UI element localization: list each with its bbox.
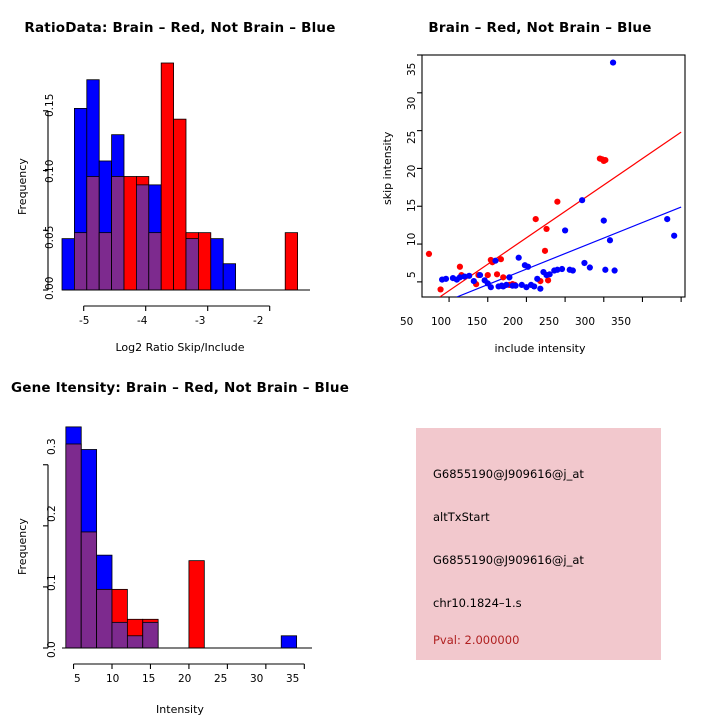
hist-bar [189,561,204,648]
scatter-point [500,274,506,280]
scatter-point [542,248,548,254]
scatter-point [492,258,498,264]
info-coordinate: chr10.1824–1.s [433,596,522,610]
scatter-point [466,273,472,279]
scatter-point [570,267,576,273]
scatter-point [581,260,587,266]
scatter-series [426,156,609,293]
scatter-point [537,286,543,292]
scatter-point [494,271,500,277]
hist-bar [161,63,173,290]
scatter-point [488,284,494,290]
info-pval: Pval: 2.000000 [433,633,519,647]
scatter-point [426,251,432,257]
hist-bar-overlap [87,177,99,291]
scatter-point [607,237,613,243]
scatter-point [602,267,608,273]
scatter-point [664,216,670,222]
hist-bar [124,177,136,291]
hist-bar-overlap [99,233,111,290]
scatter-point [579,197,585,203]
scatter-point [437,286,443,292]
scatter-point [443,276,449,282]
hist-bar-overlap [112,622,127,648]
fit-line-0 [440,132,681,297]
scatter-point [498,256,504,262]
scatter-point [554,199,560,205]
scatter-point [503,282,509,288]
info-event-type: altTxStart [433,510,490,524]
panel2-plot-area [360,0,720,360]
scatter-point [587,264,593,270]
panel-scatter: Brain – Red, Not Brain – Blue skip inten… [360,0,720,360]
info-probeset-id-1: G6855190@J909616@j_at [433,467,584,481]
scatter-point [525,264,531,270]
hist-bar [211,239,223,290]
scatter-point [512,283,518,289]
scatter-point [485,272,491,278]
panel1-plot-area [0,0,360,360]
info-text-box: G6855190@J909616@j_at altTxStart G685519… [416,428,661,660]
hist-bar [198,233,210,290]
panel3-plot-area [0,360,360,720]
hist-bar-overlap [136,185,148,290]
hist-bar-overlap [127,636,142,648]
hist-bar [62,239,74,290]
scatter-point [610,59,616,65]
hist-bar-overlap [66,444,81,648]
scatter-point [602,157,608,163]
hist-bar-overlap [112,177,124,291]
hist-bar-overlap [97,589,112,648]
scatter-point [543,226,549,232]
scatter-point [516,255,522,261]
plot-frame [422,55,685,297]
scatter-point [612,267,618,273]
panel-ratio-histogram: RatioData: Brain – Red, Not Brain – Blue… [0,0,360,360]
hist-bar [223,264,235,290]
scatter-point [545,277,551,283]
scatter-point [477,272,483,278]
scatter-point [533,216,539,222]
hist-bar [174,119,186,290]
hist-bar [281,636,296,648]
scatter-point [506,274,512,280]
scatter-point [531,283,537,289]
scatter-point [559,266,565,272]
info-probeset-id-2: G6855190@J909616@j_at [433,553,584,567]
scatter-point [534,276,540,282]
scatter-point [457,264,463,270]
hist-bar-overlap [143,622,158,648]
hist-bar-overlap [186,239,198,290]
hist-bar-overlap [74,233,86,290]
hist-bar-overlap [81,532,96,648]
scatter-point [471,278,477,284]
panel-gene-intensity-histogram: Gene Itensity: Brain – Red, Not Brain – … [0,360,360,720]
scatter-point [562,227,568,233]
fit-lines-group [440,132,681,297]
hist-bar-overlap [149,233,161,290]
scatter-point [671,233,677,239]
scatter-point [601,218,607,224]
hist-bar [285,233,297,290]
